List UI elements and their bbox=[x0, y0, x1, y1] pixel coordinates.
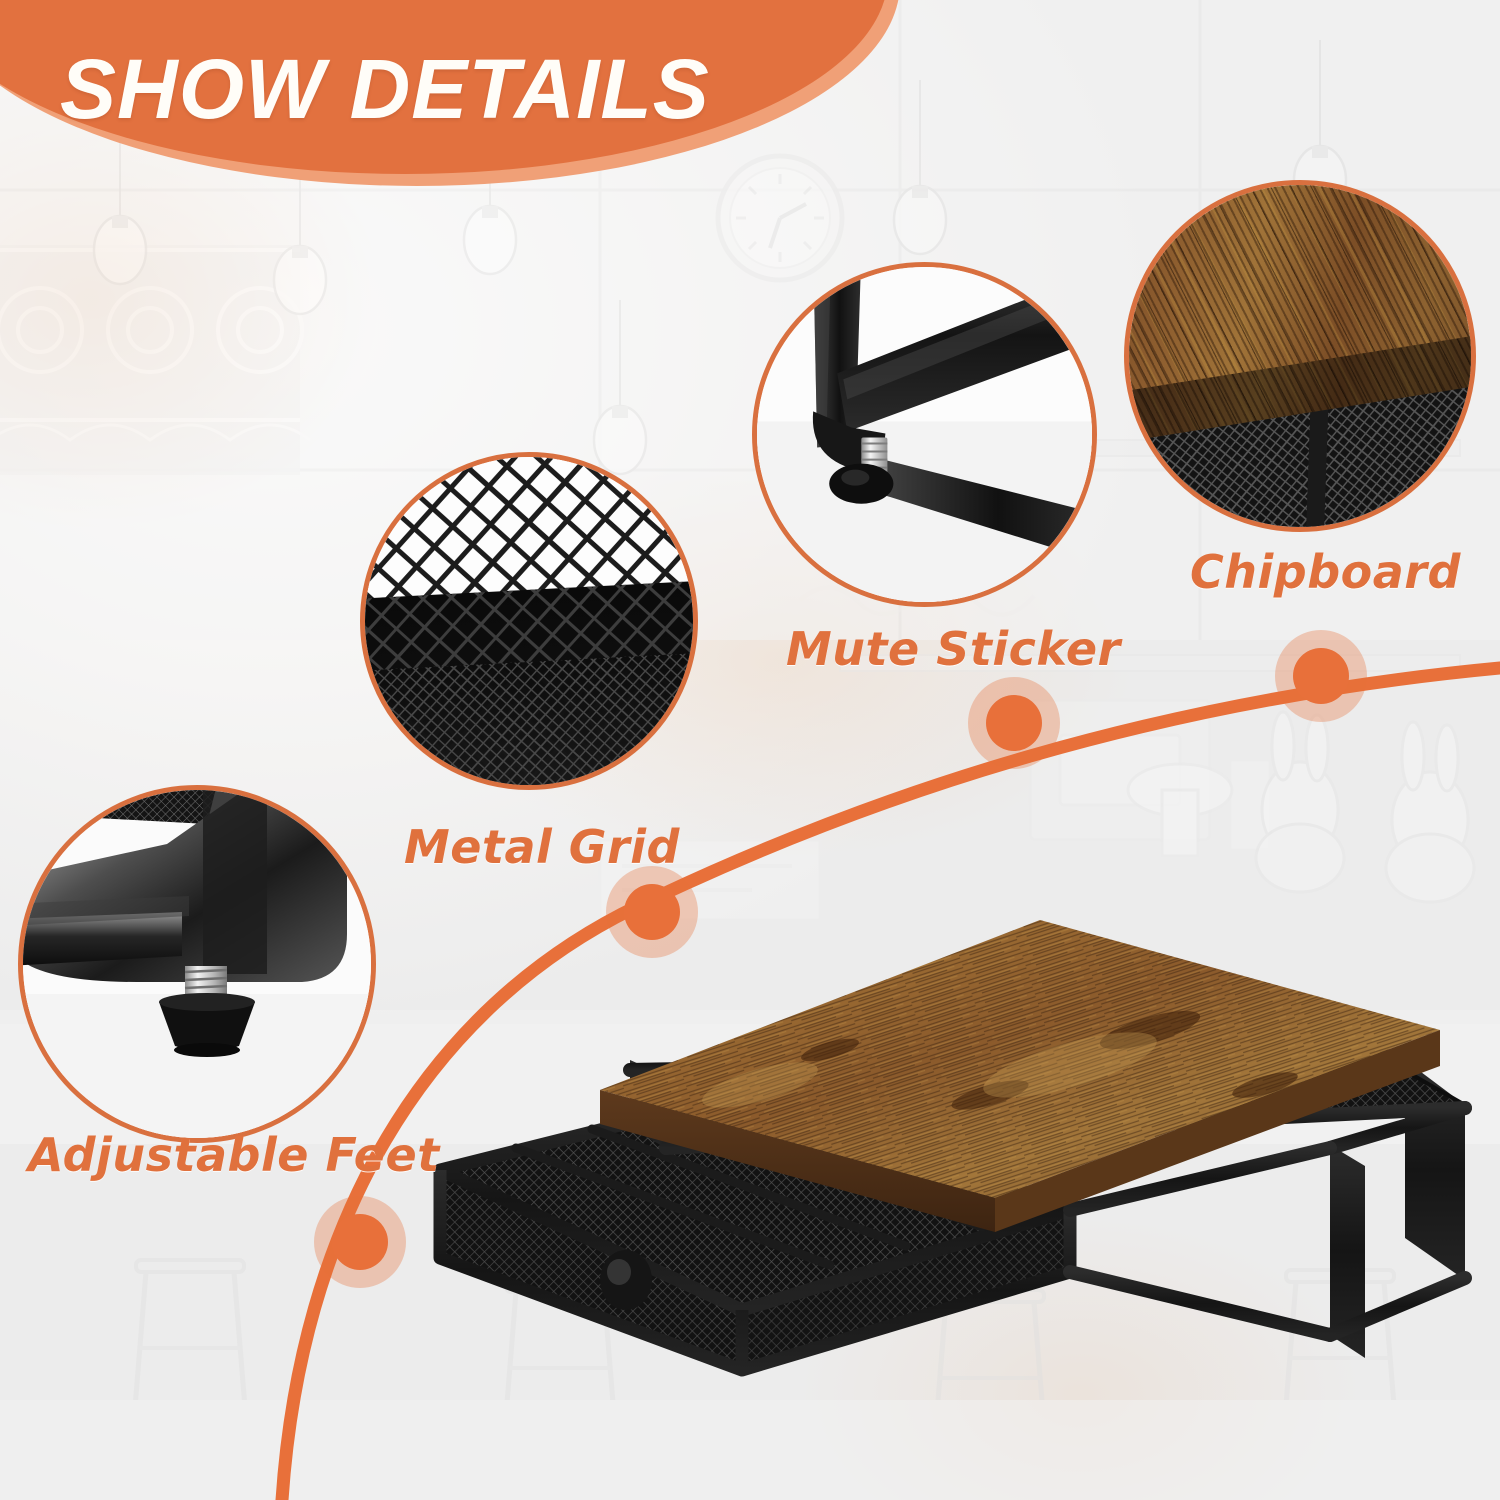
header-title: SHOW DETAILS bbox=[60, 41, 710, 138]
inset-mute-sticker bbox=[752, 262, 1097, 607]
inset-metal-grid bbox=[360, 452, 698, 790]
drawer-knob bbox=[600, 1250, 652, 1310]
callout-label-mute-sticker: Mute Sticker bbox=[786, 622, 1121, 676]
inset-adjustable-feet bbox=[18, 785, 376, 1143]
metal-mesh-icon bbox=[360, 452, 698, 790]
inset-chipboard bbox=[1124, 180, 1476, 532]
callout-label-adjustable-feet: Adjustable Feet bbox=[28, 1128, 440, 1182]
infographic-canvas: Adjustable Feet Metal Grid bbox=[0, 0, 1500, 1500]
callout-label-chipboard: Chipboard bbox=[1190, 545, 1461, 599]
wood-top-icon bbox=[1124, 180, 1476, 532]
product-image-monitor-stand bbox=[430, 880, 1500, 1440]
callout-label-metal-grid: Metal Grid bbox=[404, 820, 680, 874]
frame-corner-icon bbox=[752, 262, 1097, 607]
leveling-foot-icon bbox=[18, 785, 376, 1143]
